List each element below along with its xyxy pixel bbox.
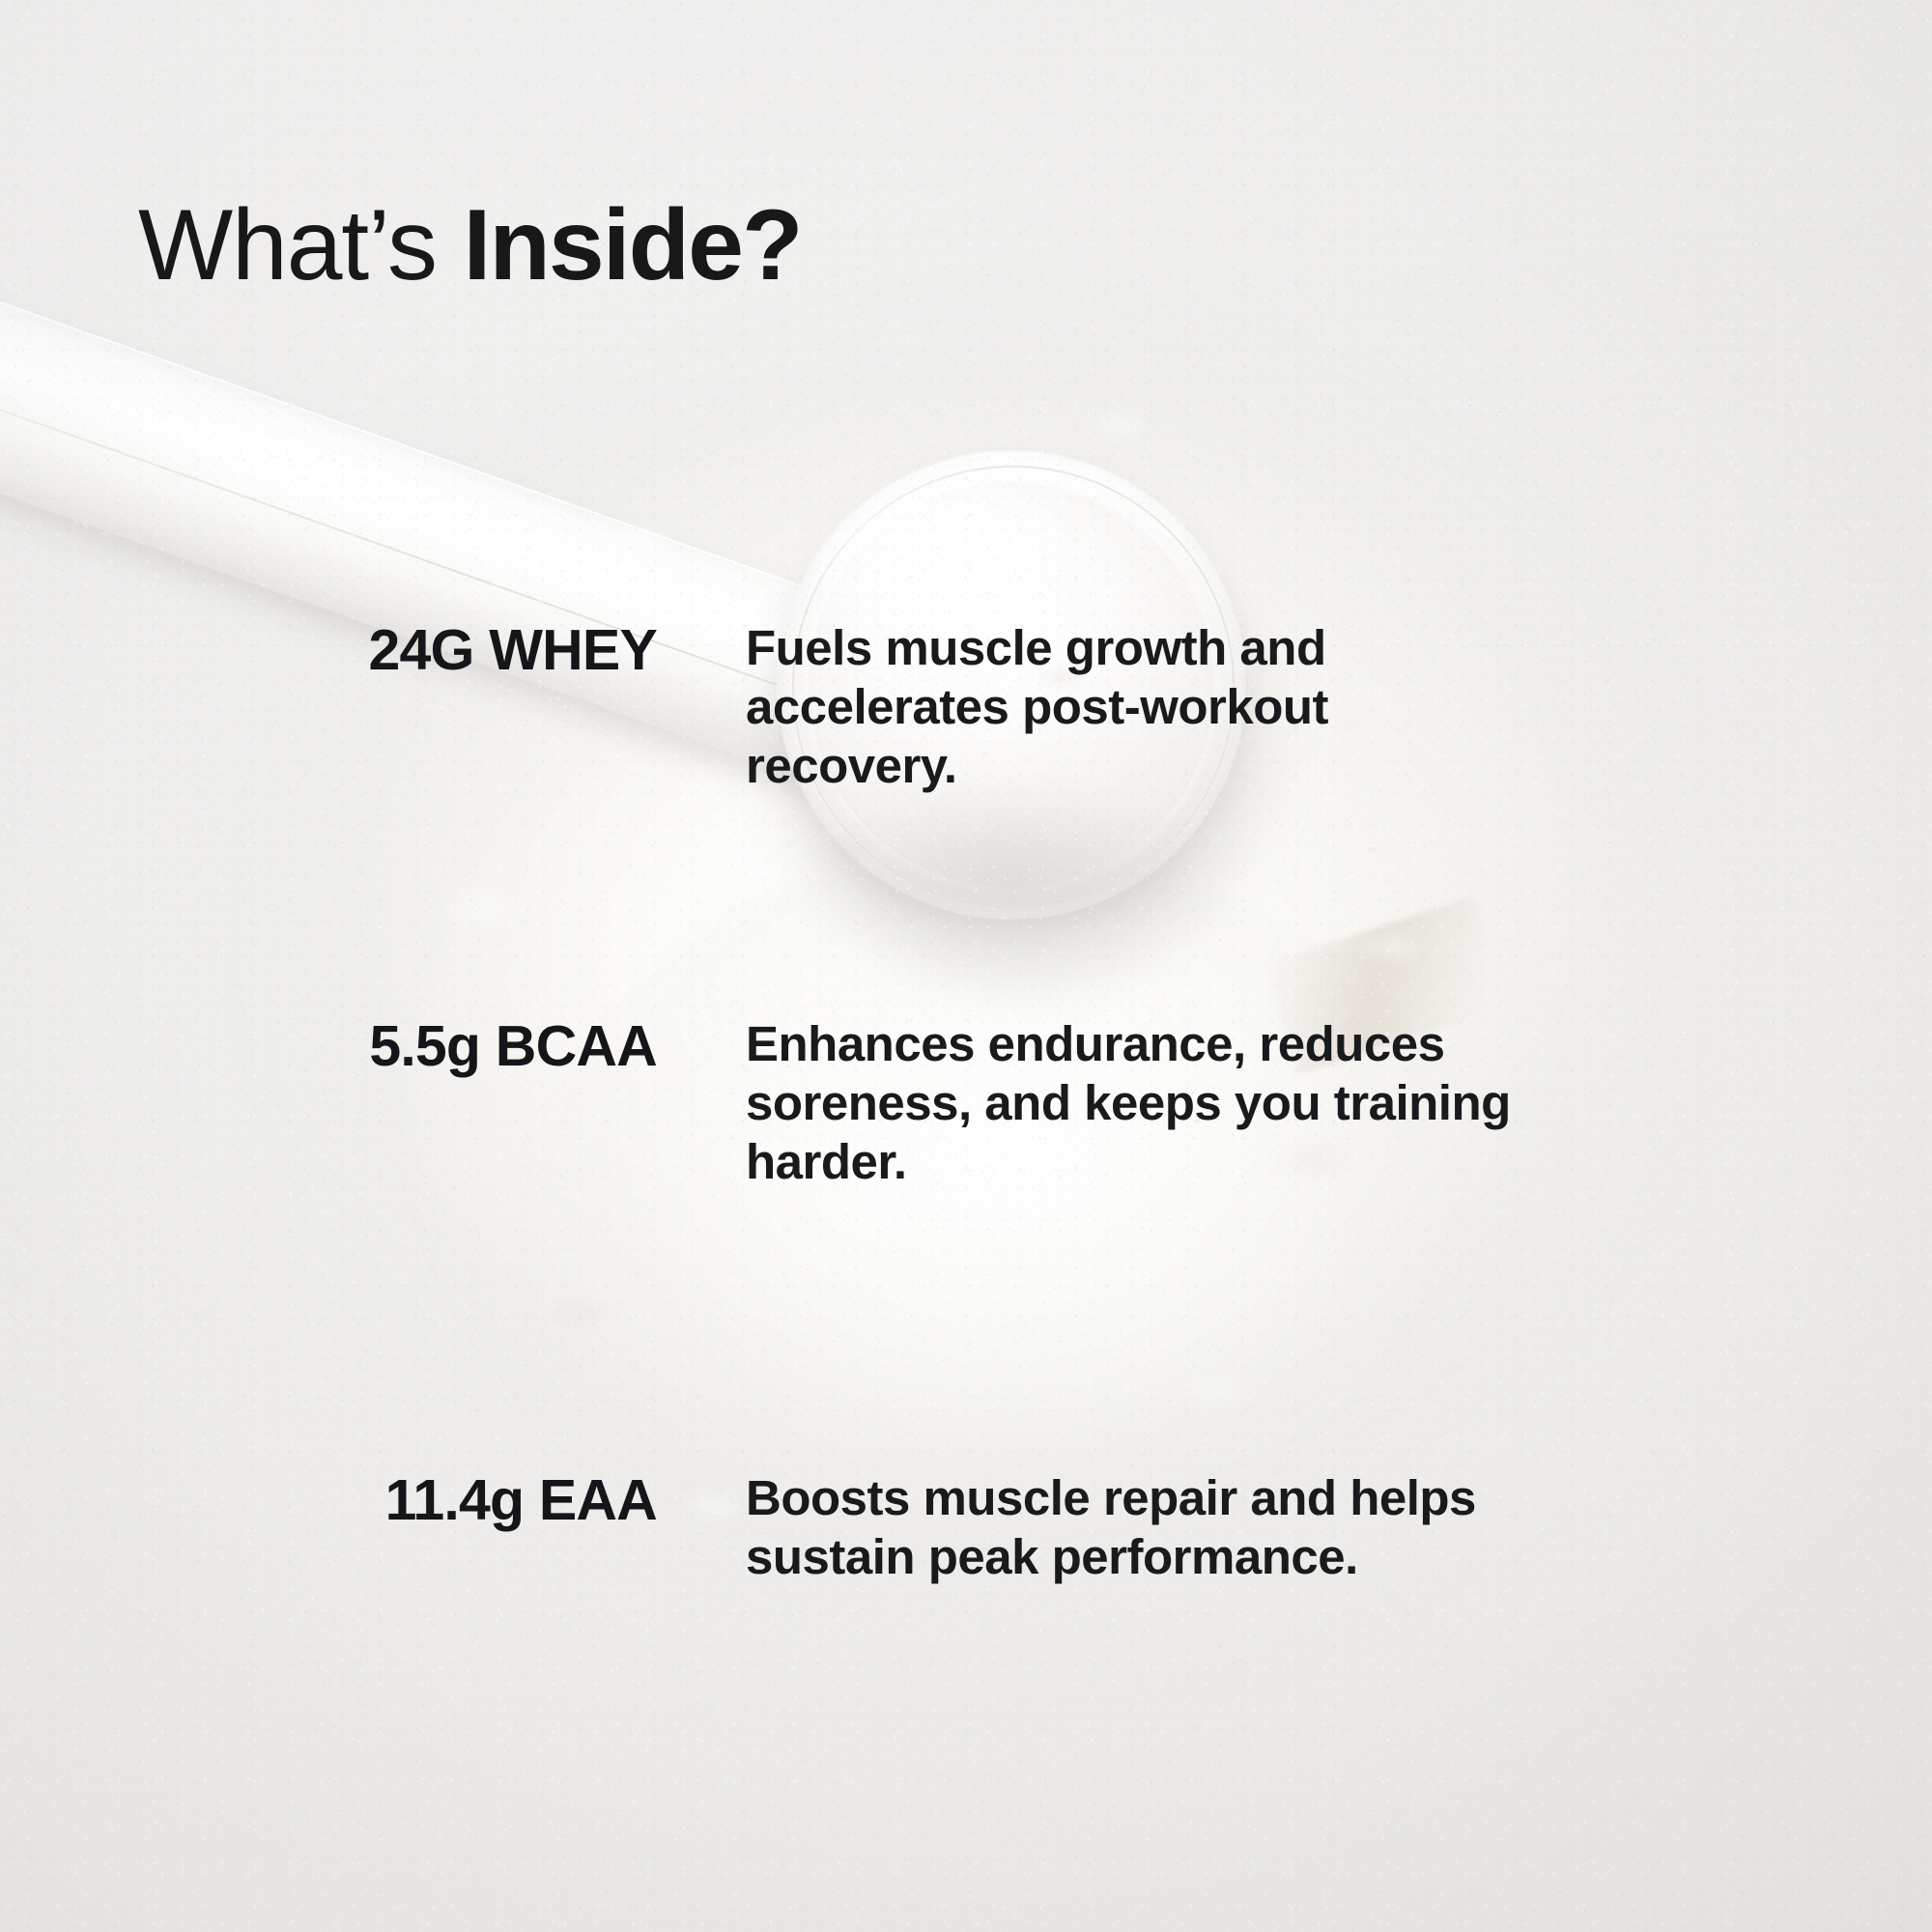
ingredient-amount-bcaa: 5.5g BCAA (155, 1014, 657, 1078)
ingredient-row-whey: 24G WHEY Fuels muscle growth and acceler… (155, 618, 1719, 796)
page-title: What’s Inside? (138, 191, 802, 299)
ingredient-description-eaa: Boosts muscle repair and helps sustain p… (746, 1468, 1509, 1586)
ingredient-description-bcaa: Enhances endurance, reduces soreness, an… (746, 1014, 1528, 1192)
poster-content: What’s Inside? 24G WHEY Fuels muscle gro… (0, 0, 1932, 1932)
page-title-bold: Inside? (463, 189, 801, 301)
page-title-light: What’s (138, 189, 463, 301)
ingredient-amount-whey: 24G WHEY (155, 618, 657, 682)
whats-inside-poster: What’s Inside? 24G WHEY Fuels muscle gro… (0, 0, 1932, 1932)
ingredient-description-whey: Fuels muscle growth and accelerates post… (746, 618, 1528, 796)
ingredient-row-eaa: 11.4g EAA Boosts muscle repair and helps… (155, 1468, 1719, 1586)
ingredient-row-bcaa: 5.5g BCAA Enhances endurance, reduces so… (155, 1014, 1719, 1192)
ingredient-amount-eaa: 11.4g EAA (155, 1468, 657, 1532)
